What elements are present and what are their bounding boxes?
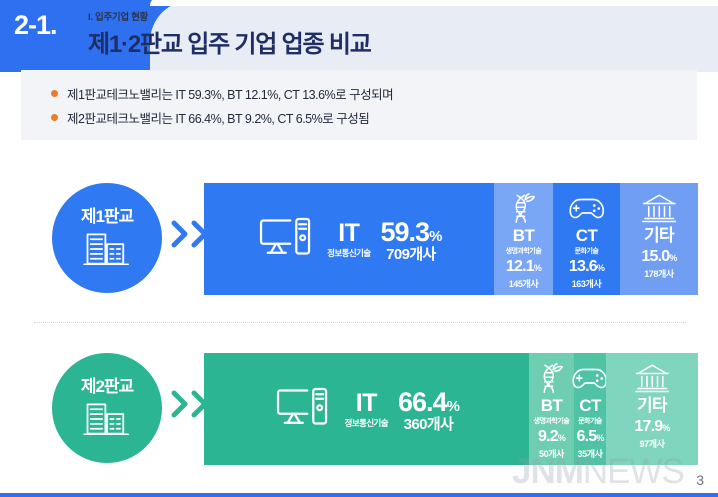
footer-blue-line (0, 493, 718, 497)
bar-segment-it[interactable]: IT 정보통신기술 59.3% 709개사 (204, 183, 494, 295)
summary-bullet-2: 제2판교테크노밸리는 IT 66.4%, BT 9.2%, CT 6.5%로 구… (51, 108, 369, 127)
summary-panel: 제1판교테크노밸리는 IT 59.3%, BT 12.1%, CT 13.6%로… (21, 70, 697, 140)
segment-percent: 17.9% (634, 419, 669, 435)
segment-subtitle: 생명과학기술 (506, 246, 542, 256)
segment-percent: 59.3% (381, 219, 442, 246)
summary-bullet-text: 제1판교테크노밸리는 IT 59.3%, BT 12.1%, CT 13.6%로… (67, 84, 393, 103)
desktop-tower-icon (257, 216, 312, 263)
stacked-bar-2: IT 정보통신기술 66.4% 360개사 BT생명과학기술9.2%50개사 (204, 353, 698, 465)
bar-segment-it[interactable]: IT 정보통신기술 66.4% 360개사 (204, 353, 529, 465)
slide-root: 2-1. I. 입주기업 현황 제1·2판교 입주 기업 업종 비교 제1판교테… (0, 0, 718, 497)
page-number: 3 (696, 472, 704, 488)
segment-percent: 9.2% (538, 429, 565, 445)
segment-name: IT (338, 221, 359, 246)
bar-segment-bt[interactable]: BT생명과학기술9.2%50개사 (529, 353, 574, 465)
breadcrumb: I. 입주기업 현황 (88, 9, 148, 23)
bar-segment-기타[interactable]: 기타15.0%178개사 (620, 183, 698, 295)
segment-name: BT (541, 397, 562, 414)
segment-count: 35개사 (578, 447, 603, 460)
bar-segment-ct[interactable]: CT문화기술13.6%163개사 (553, 183, 620, 295)
chart-row-2: 제2판교 IT 정보통신기술 (0, 345, 718, 475)
dna-icon (511, 191, 537, 225)
gamepad-icon (571, 361, 609, 395)
segment-subtitle: 정보통신기술 (345, 419, 388, 428)
segment-count: 145개사 (509, 277, 539, 290)
segment-subtitle: 문화기술 (575, 246, 599, 256)
building-icon (81, 401, 133, 440)
bar-segment-기타[interactable]: 기타17.9%97개사 (606, 353, 698, 465)
gamepad-icon (568, 191, 606, 225)
segment-percent: 66.4% (398, 389, 459, 416)
segment-name: CT (579, 397, 600, 414)
slide-number-badge: 2-1. (14, 10, 57, 41)
segment-count: 360개사 (404, 417, 454, 432)
segment-subtitle: 생명과학기술 (534, 416, 570, 426)
segment-subtitle: 문화기술 (578, 416, 602, 426)
org-circle-label: 제1판교 (81, 202, 133, 227)
segment-name: CT (576, 227, 597, 244)
segment-count: 163개사 (572, 277, 602, 290)
bar-segment-bt[interactable]: BT생명과학기술12.1%145개사 (494, 183, 553, 295)
row-divider (34, 322, 686, 323)
segment-count: 50개사 (539, 447, 564, 460)
desktop-tower-icon (274, 386, 329, 433)
dna-icon (539, 361, 565, 395)
segment-name: 기타 (644, 227, 674, 244)
bank-icon (642, 191, 677, 225)
segment-name: BT (513, 227, 534, 244)
summary-bullet-1: 제1판교테크노밸리는 IT 59.3%, BT 12.1%, CT 13.6%로… (51, 84, 393, 103)
segment-count: 97개사 (640, 437, 665, 450)
bullet-dot-icon (51, 90, 58, 97)
org-circle-2[interactable]: 제2판교 (52, 353, 162, 463)
org-circle-1[interactable]: 제1판교 (52, 183, 162, 293)
stacked-bar-1: IT 정보통신기술 59.3% 709개사 BT생명과학기술12.1%145개사 (204, 183, 698, 295)
segment-percent: 12.1% (506, 259, 541, 275)
summary-bullet-text: 제2판교테크노밸리는 IT 66.4%, BT 9.2%, CT 6.5%로 구… (67, 108, 369, 127)
segment-name: 기타 (637, 397, 667, 414)
bank-icon (635, 361, 670, 395)
segment-subtitle: 정보통신기술 (327, 249, 370, 258)
bar-segment-ct[interactable]: CT문화기술6.5%35개사 (574, 353, 606, 465)
org-circle-label: 제2판교 (81, 372, 133, 397)
segment-percent: 13.6% (569, 259, 604, 275)
building-icon (81, 231, 133, 270)
chart-row-1: 제1판교 IT 정보통신기술 (0, 175, 718, 305)
segment-percent: 15.0% (641, 249, 676, 265)
page-title: 제1·2판교 입주 기업 업종 비교 (88, 24, 371, 59)
segment-count: 178개사 (644, 267, 674, 280)
bullet-dot-icon (51, 114, 58, 121)
segment-count: 709개사 (386, 247, 436, 262)
segment-percent: 6.5% (576, 429, 603, 445)
segment-name: IT (356, 391, 377, 416)
